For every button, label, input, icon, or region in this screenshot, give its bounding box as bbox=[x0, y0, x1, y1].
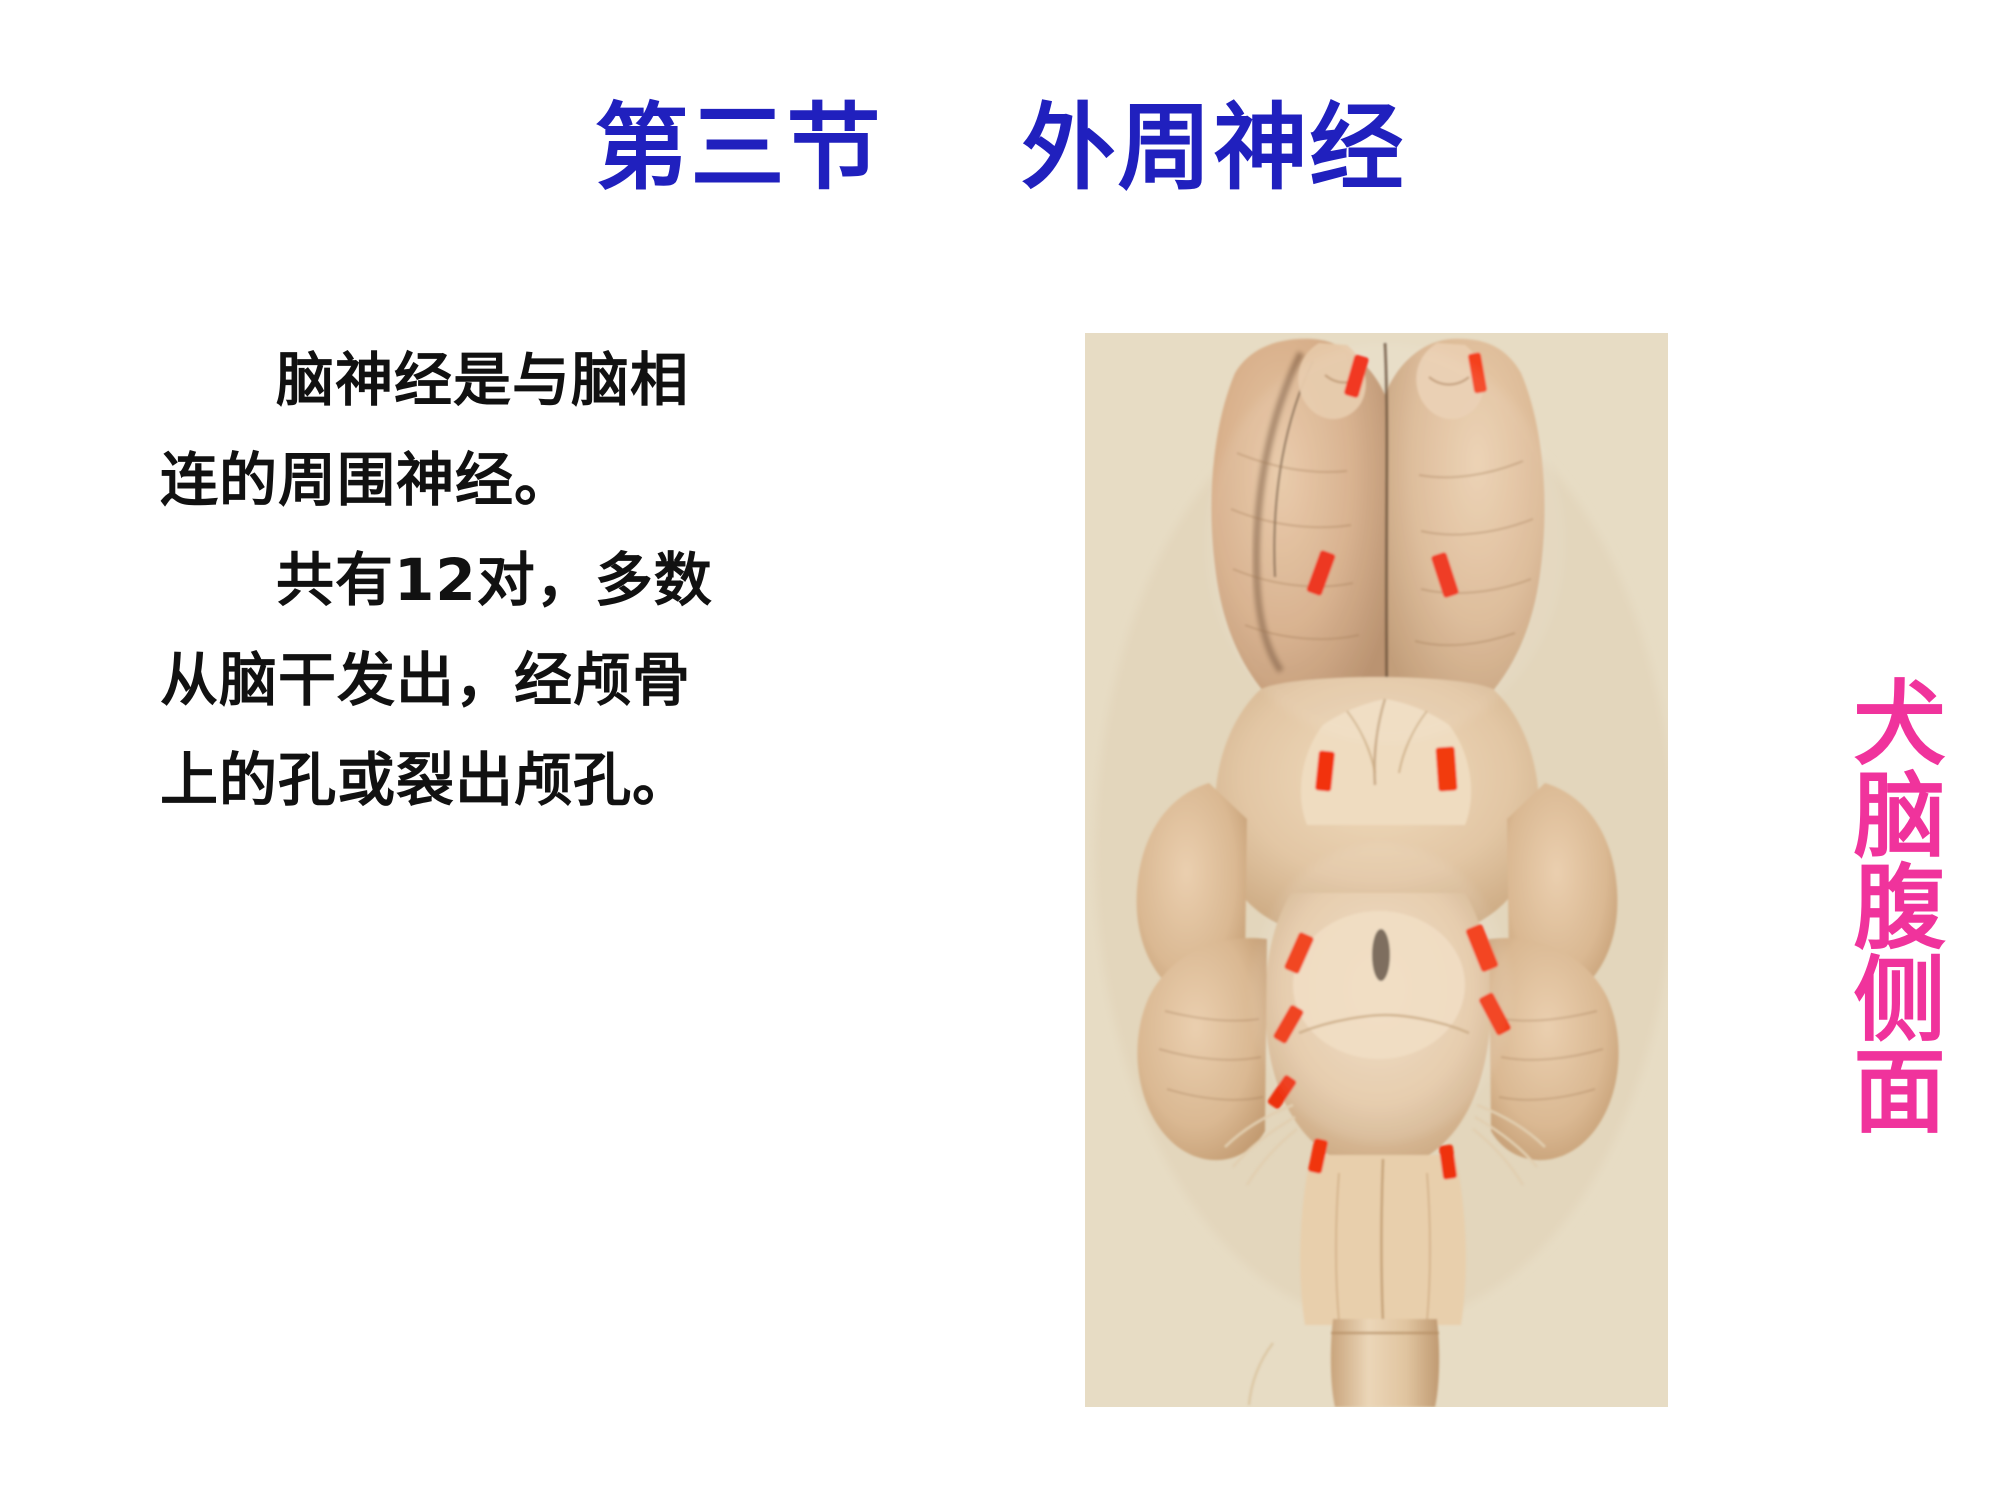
body-text-block: 脑神经是与脑相连的周围神经。 共有12对，多数从脑干发出，经颅骨上的孔或裂出颅孔… bbox=[160, 330, 740, 830]
marker-oculomotor-right bbox=[1435, 746, 1457, 791]
highlight-lower bbox=[1251, 843, 1511, 1143]
slide-canvas: 第三节 外周神经 脑神经是与脑相连的周围神经。 共有12对，多数从脑干发出，经颅… bbox=[0, 0, 2000, 1500]
highlight-upper bbox=[1205, 343, 1565, 743]
specimen-photo bbox=[1085, 333, 1668, 1407]
body-paragraph-2: 共有12对，多数从脑干发出，经颅骨上的孔或裂出颅孔。 bbox=[160, 530, 740, 830]
photo-caption: 犬脑腹侧面 bbox=[1818, 675, 1936, 1135]
brain-specimen-illustration bbox=[1085, 333, 1668, 1407]
page-title: 第三节 外周神经 bbox=[0, 96, 2000, 201]
body-paragraph-1: 脑神经是与脑相连的周围神经。 bbox=[160, 330, 740, 530]
